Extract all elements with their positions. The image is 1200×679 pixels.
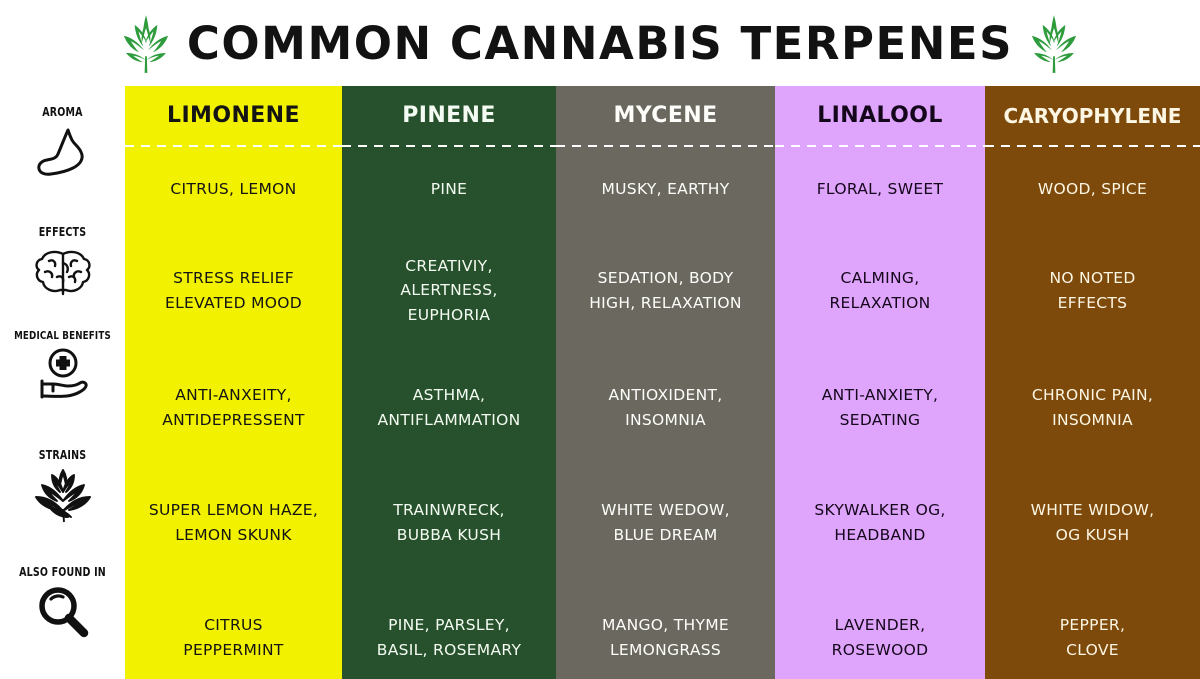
cell-effects: NO NOTED EFFECTS (985, 231, 1200, 350)
column-header-pinene: PINENE (342, 86, 556, 145)
cell-aroma: PINE (342, 147, 556, 231)
legend-row-strains: STRAINS (0, 448, 125, 523)
cell-also-found-in: CITRUS PEPPERMINT (125, 580, 342, 679)
legend-label: MEDICAL BENEFITS (8, 329, 118, 342)
page-header: COMMON CANNABIS TERPENES (0, 0, 1200, 86)
hand-medical-cross-icon (0, 347, 125, 403)
column-mycene: MYCENE MUSKY, EARTHY SEDATION, BODY HIGH… (556, 86, 775, 679)
legend-label: STRAINS (8, 448, 118, 462)
cell-also-found-in: MANGO, THYME LEMONGRASS (556, 580, 775, 679)
cell-also-found-in: PEPPER, CLOVE (985, 580, 1200, 679)
column-linalool: LINALOOL FLORAL, SWEET CALMING, RELAXATI… (775, 86, 985, 679)
column-header-mycene: MYCENE (556, 86, 775, 145)
cannabis-bud-icon (0, 467, 125, 523)
nose-icon (0, 124, 125, 180)
cell-medical: CHRONIC PAIN, INSOMNIA (985, 350, 1200, 465)
cannabis-leaf-icon (119, 12, 173, 74)
cell-also-found-in: LAVENDER, ROSEWOOD (775, 580, 985, 679)
column-caryophylene: CARYOPHYLENE WOOD, SPICE NO NOTED EFFECT… (985, 86, 1200, 679)
legend-row-also-found-in: ALSO FOUND IN (0, 565, 125, 640)
column-limonene: LIMONENE CITRUS, LEMON STRESS RELIEF ELE… (125, 86, 342, 679)
column-pinene: PINENE PINE CREATIVIY, ALERTNESS, EUPHOR… (342, 86, 556, 679)
legend-row-aroma: AROMA (0, 105, 125, 180)
cell-aroma: CITRUS, LEMON (125, 147, 342, 231)
magnifying-glass-icon (0, 584, 125, 640)
cell-strains: SUPER LEMON HAZE, LEMON SKUNK (125, 465, 342, 580)
legend-label: EFFECTS (8, 225, 118, 239)
cell-effects: CALMING, RELAXATION (775, 231, 985, 350)
cell-strains: SKYWALKER OG, HEADBAND (775, 465, 985, 580)
cell-strains: WHITE WIDOW, OG KUSH (985, 465, 1200, 580)
column-header-linalool: LINALOOL (775, 86, 985, 145)
terpene-table: LIMONENE CITRUS, LEMON STRESS RELIEF ELE… (125, 86, 1200, 679)
cell-medical: ANTI-ANXIETY, SEDATING (775, 350, 985, 465)
cell-also-found-in: PINE, PARSLEY, BASIL, ROSEMARY (342, 580, 556, 679)
legend-label: ALSO FOUND IN (8, 565, 118, 579)
infographic-root: COMMON CANNABIS TERPENES AROMA (0, 0, 1200, 679)
cannabis-leaf-icon (1027, 12, 1081, 74)
legend-row-medical-benefits: MEDICAL BENEFITS (0, 329, 125, 403)
cell-aroma: WOOD, SPICE (985, 147, 1200, 231)
legend-row-effects: EFFECTS (0, 225, 125, 300)
cell-strains: TRAINWRECK, BUBBA KUSH (342, 465, 556, 580)
column-header-limonene: LIMONENE (125, 86, 342, 145)
column-header-caryophylene: CARYOPHYLENE (985, 86, 1200, 145)
cell-aroma: MUSKY, EARTHY (556, 147, 775, 231)
cell-effects: STRESS RELIEF ELEVATED MOOD (125, 231, 342, 350)
cell-strains: WHITE WEDOW, BLUE DREAM (556, 465, 775, 580)
cell-effects: CREATIVIY, ALERTNESS, EUPHORIA (342, 231, 556, 350)
cell-medical: ANTI-ANXEITY, ANTIDEPRESSENT (125, 350, 342, 465)
brain-icon (0, 244, 125, 300)
cell-effects: SEDATION, BODY HIGH, RELAXATION (556, 231, 775, 350)
page-title: COMMON CANNABIS TERPENES (187, 21, 1013, 66)
cell-medical: ASTHMA, ANTIFLAMMATION (342, 350, 556, 465)
cell-medical: ANTIOXIDENT, INSOMNIA (556, 350, 775, 465)
legend-label: AROMA (8, 105, 118, 119)
row-legend-sidebar: AROMA EFFECTS (0, 86, 125, 679)
cell-aroma: FLORAL, SWEET (775, 147, 985, 231)
